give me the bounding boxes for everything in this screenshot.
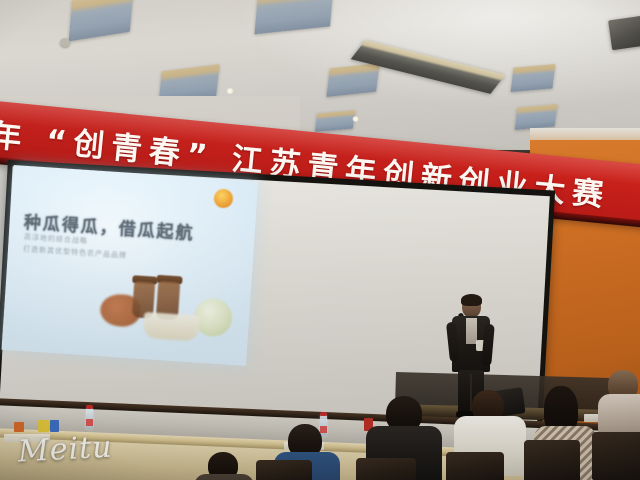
presenter-hair [461,294,482,306]
chair [256,460,312,480]
ceiling-panel-4 [326,63,379,97]
person-torso [194,474,254,480]
slide-subtitle-line-2: 打造新其优型特色农产品品牌 [23,244,127,261]
desk-item-orange [14,422,24,432]
chair [356,458,416,480]
bottle-cap [320,412,327,416]
ceiling-panel-5 [511,64,556,92]
ceiling-speaker-right [608,16,640,50]
photo-scene: 年 “创青春” 江苏青年创新创业大赛 种瓜得瓜，借瓜起航 高淳地的综合战略 打造… [0,0,640,480]
ceiling-sensor [60,38,70,47]
presenter-arm-left [481,324,495,367]
meitu-watermark: Meitu [17,430,113,470]
chair [446,452,504,480]
ceiling-downlight-3 [352,116,359,122]
desk-item-blue [50,420,59,432]
slide-logo-icon [213,188,233,208]
bottle-label [320,426,327,433]
presentation-slide: 种瓜得瓜，借瓜起航 高淳地的综合战略 打造新其优型特色农产品品牌 [1,165,258,366]
ceiling-panel-7 [315,110,355,132]
bottle-label [86,419,93,426]
desk-item-yellow [38,420,49,432]
bottle-cap [86,405,93,409]
slide-product-bowl [143,312,201,342]
ceiling-downlight-2 [226,88,234,94]
chair [592,432,640,480]
chair [524,440,580,480]
ceiling-panel-6 [515,104,558,130]
